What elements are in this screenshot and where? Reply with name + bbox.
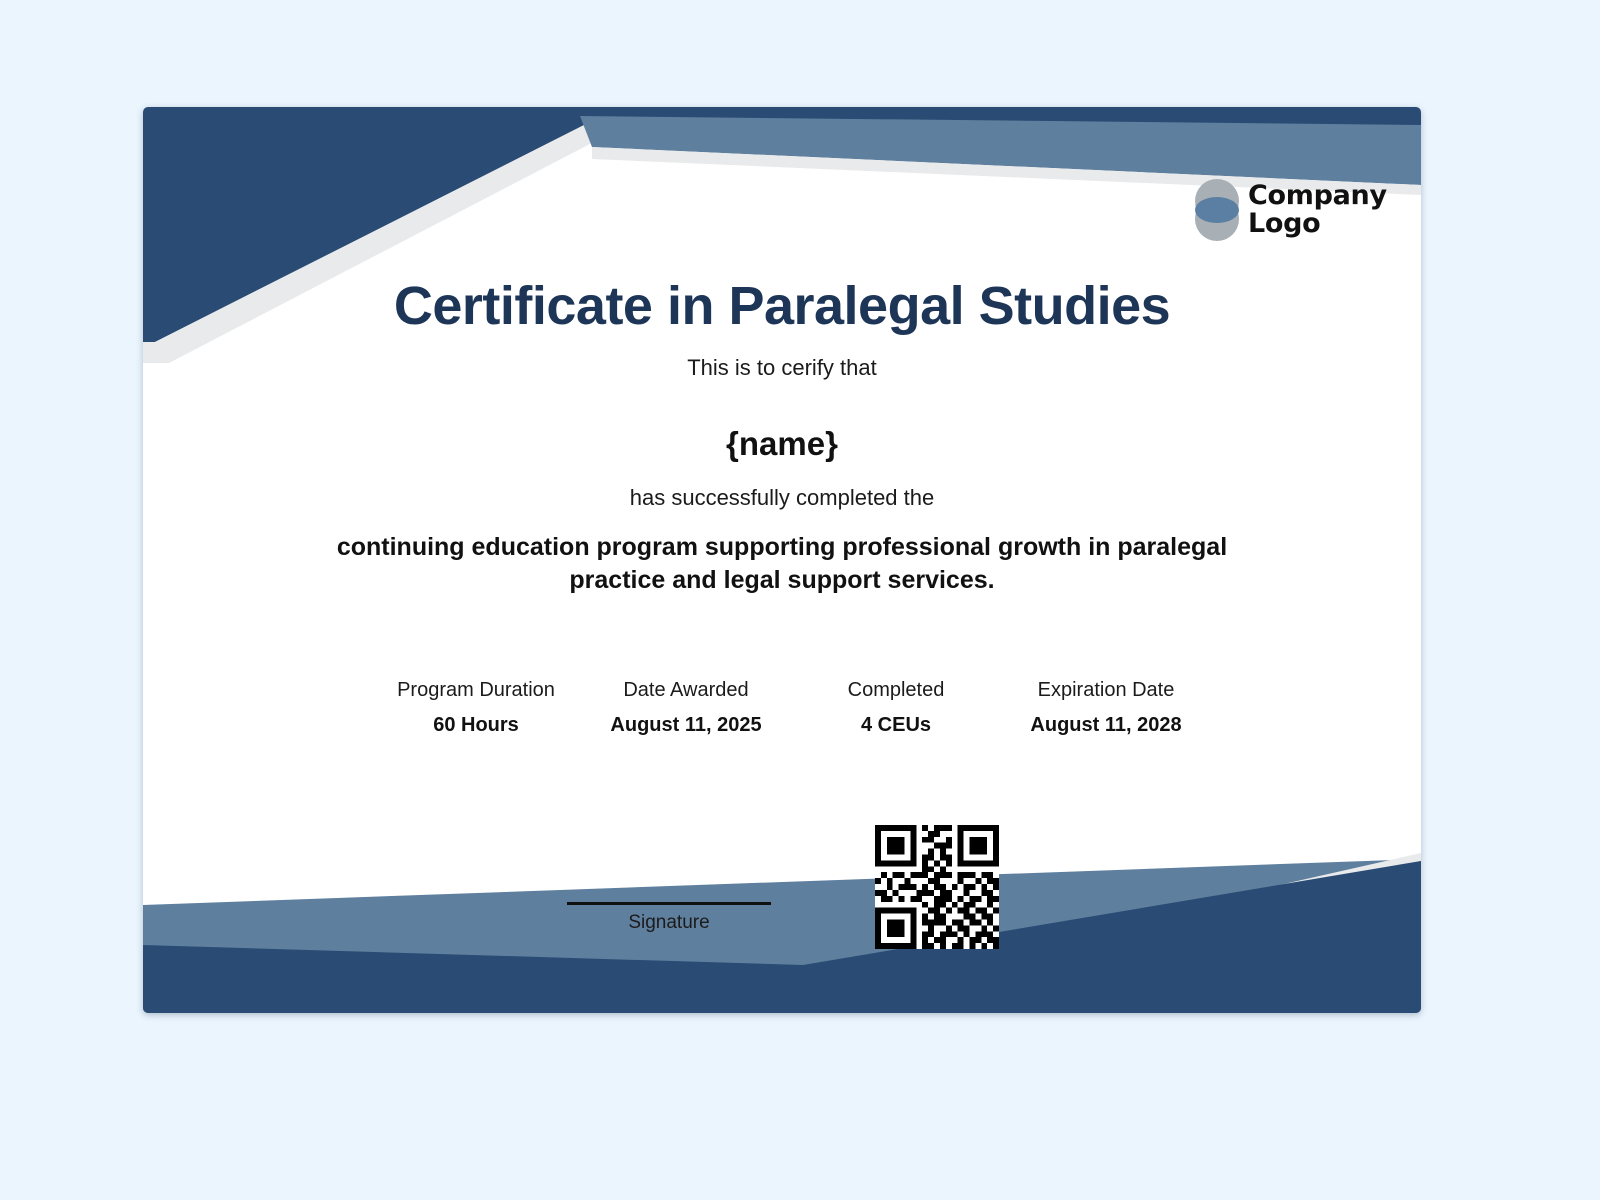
detail-label: Date Awarded [581, 679, 791, 702]
detail-value: 4 CEUs [791, 714, 1001, 737]
detail-program-duration: Program Duration 60 Hours [371, 679, 581, 737]
detail-label: Expiration Date [1001, 679, 1211, 702]
certificate-details-row: Program Duration 60 Hours Date Awarded A… [371, 679, 1211, 737]
detail-label: Program Duration [371, 679, 581, 702]
detail-date-awarded: Date Awarded August 11, 2025 [581, 679, 791, 737]
page-background: Company Logo Certificate in Paralegal St… [0, 0, 1600, 1200]
detail-expiration-date: Expiration Date August 11, 2028 [1001, 679, 1211, 737]
signature-label: Signature [567, 912, 771, 934]
detail-value: 60 Hours [371, 714, 581, 737]
program-description: continuing education program supporting … [332, 531, 1232, 597]
signature-block: Signature [567, 902, 771, 934]
completion-statement: has successfully completed the [143, 485, 1421, 511]
detail-completed: Completed 4 CEUs [791, 679, 1001, 737]
detail-value: August 11, 2025 [581, 714, 791, 737]
certificate-title: Certificate in Paralegal Studies [143, 275, 1421, 337]
certificate-body: Certificate in Paralegal Studies This is… [143, 107, 1421, 1013]
verification-qr-code[interactable] [875, 825, 999, 949]
certificate-card: Company Logo Certificate in Paralegal St… [143, 107, 1421, 1013]
detail-value: August 11, 2028 [1001, 714, 1211, 737]
certify-statement: This is to cerify that [143, 355, 1421, 381]
recipient-name: {name} [143, 425, 1421, 463]
signature-line [567, 902, 771, 905]
detail-label: Completed [791, 679, 1001, 702]
